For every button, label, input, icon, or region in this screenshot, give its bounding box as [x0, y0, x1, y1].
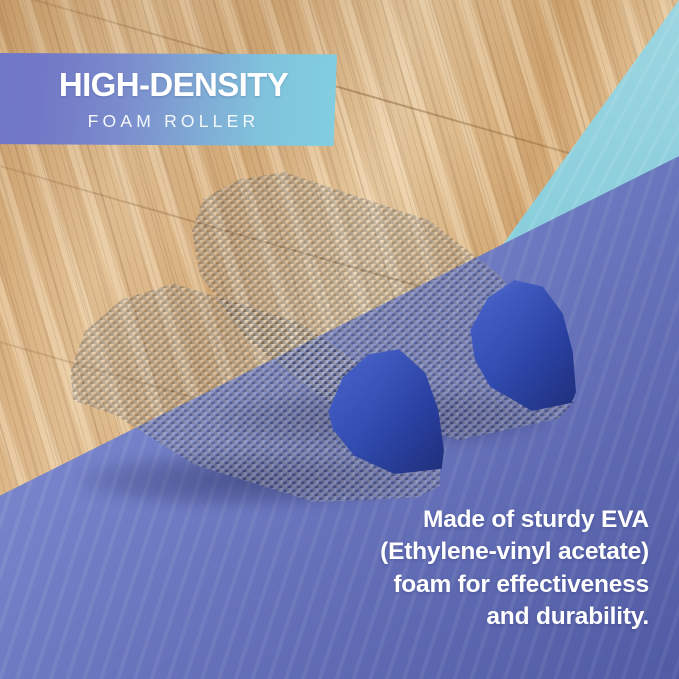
- title-banner: HIGH-DENSITY FOAM ROLLER: [0, 53, 337, 146]
- feature-copy-line-2: (Ethylene-vinyl acetate): [319, 536, 649, 568]
- banner-title: HIGH-DENSITY: [59, 68, 288, 101]
- banner-subtitle: FOAM ROLLER: [88, 113, 260, 131]
- feature-copy-line-3: foam for effectiveness: [319, 569, 649, 601]
- foam-roller-front: [70, 272, 440, 502]
- feature-copy-block: Made of sturdy EVA (Ethylene-vinyl aceta…: [319, 504, 649, 633]
- feature-copy-line-1: Made of sturdy EVA: [319, 504, 649, 536]
- product-marketing-image: HIGH-DENSITY FOAM ROLLER Made of sturdy …: [0, 0, 679, 679]
- feature-copy-line-4: and durability.: [319, 601, 649, 633]
